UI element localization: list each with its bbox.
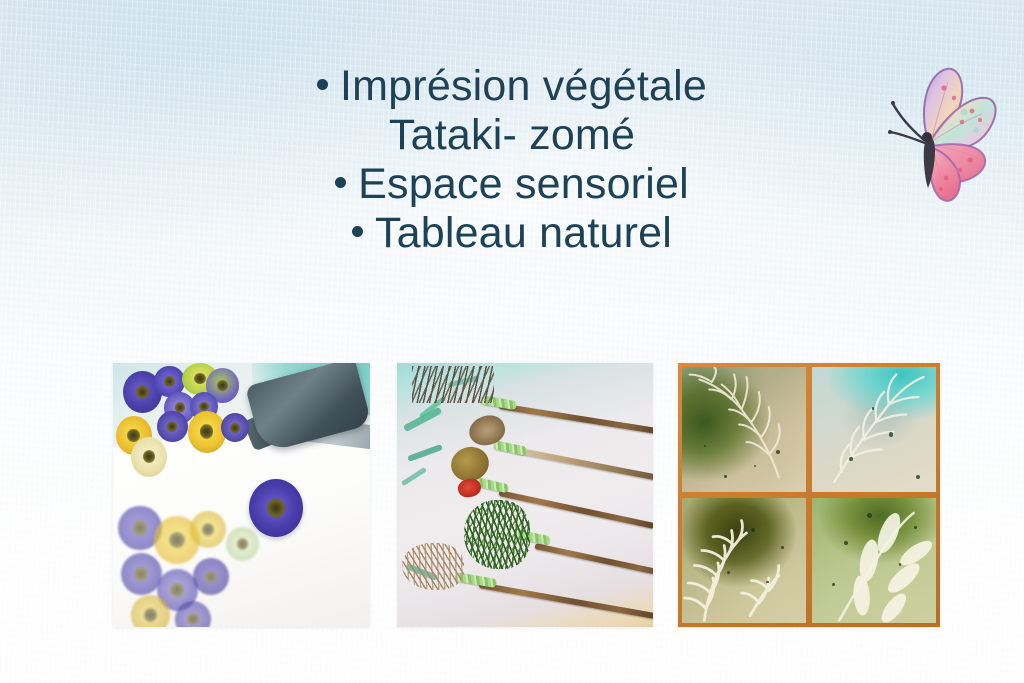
bullet-dot-icon [352, 226, 363, 237]
bullet-line-1: Imprésion végétale [0, 62, 1024, 111]
bullet-line-2: Tataki- zomé [0, 111, 1024, 160]
leaf-print-tile-3 [682, 498, 806, 623]
bullet-line-4-label: Tableau naturel [375, 209, 672, 257]
leaf-print-tile-1 [682, 367, 806, 492]
bullet-line-4: Tableau naturel [0, 209, 1024, 258]
headline-text-block: Imprésion végétale Tataki- zomé Espace s… [0, 62, 1024, 258]
slide-canvas: Imprésion végétale Tataki- zomé Espace s… [0, 0, 1024, 683]
bullet-dot-icon [335, 177, 346, 188]
pansy-flowers-hammer-photo [113, 363, 370, 627]
leaf-spray-prints-photo [678, 363, 940, 627]
bullet-line-2-label: Tataki- zomé [389, 111, 635, 159]
leaf-print-tile-2 [812, 367, 936, 492]
leaf-print-tile-4 [812, 498, 936, 623]
natural-twig-brushes-photo [397, 363, 653, 627]
bullet-line-3-label: Espace sensoriel [358, 160, 689, 208]
bullet-line-3: Espace sensoriel [0, 160, 1024, 209]
bullet-line-1-label: Imprésion végétale [340, 62, 707, 110]
butterfly-icon [884, 56, 1002, 206]
bullet-dot-icon [317, 79, 328, 90]
